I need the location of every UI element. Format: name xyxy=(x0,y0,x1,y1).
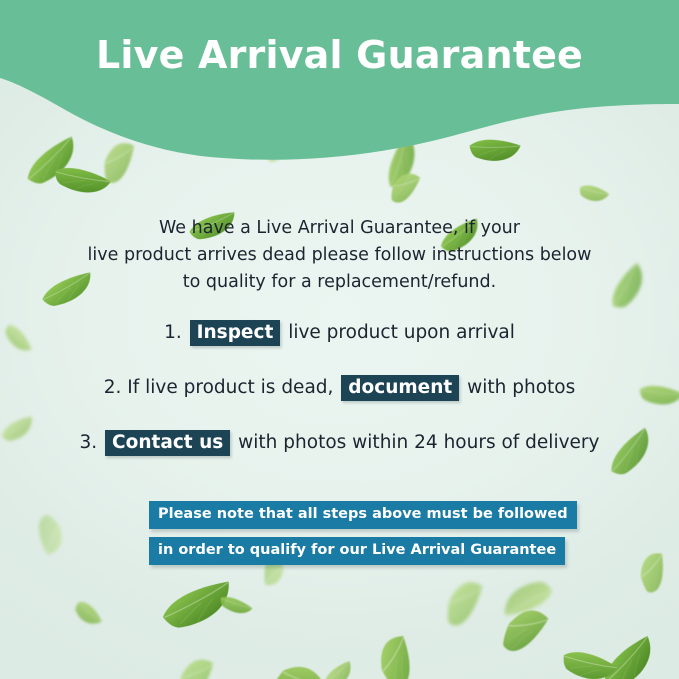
live-arrival-guarantee-poster: Live Arrival Guarantee We have a Live Ar… xyxy=(0,0,679,679)
step-number-1: 1. xyxy=(164,322,182,343)
step-text-after-2: with photos xyxy=(467,377,575,398)
step-highlight-contact-us[interactable]: Contact us xyxy=(105,430,230,456)
intro-paragraph: We have a Live Arrival Guarantee, if you… xyxy=(50,215,629,296)
step-number-2: 2. xyxy=(104,377,122,398)
step-item-1: 1. Inspect live product upon arrival xyxy=(30,320,649,346)
step-text-after-3: with photos within 24 hours of delivery xyxy=(238,432,599,453)
content-area: We have a Live Arrival Guarantee, if you… xyxy=(0,0,679,679)
steps-list: 1. Inspect live product upon arrival 2. … xyxy=(30,320,649,485)
intro-line-2: live product arrives dead please follow … xyxy=(50,242,629,269)
step-highlight-inspect[interactable]: Inspect xyxy=(190,320,281,346)
step-text-after-1: live product upon arrival xyxy=(288,322,515,343)
notice-bar-2: in order to qualify for our Live Arrival… xyxy=(149,537,565,565)
step-number-3: 3. xyxy=(80,432,98,453)
step-highlight-document[interactable]: document xyxy=(341,375,459,401)
notice-bar-1: Please note that all steps above must be… xyxy=(149,501,577,529)
step-item-2: 2. If live product is dead, document wit… xyxy=(30,375,649,401)
step-item-3: 3. Contact us with photos within 24 hour… xyxy=(30,430,649,456)
notice-block: Please note that all steps above must be… xyxy=(149,501,549,573)
intro-line-1: We have a Live Arrival Guarantee, if you… xyxy=(50,215,629,242)
intro-line-3: to quality for a replacement/refund. xyxy=(50,269,629,296)
step-text-before-2: If live product is dead, xyxy=(127,377,333,398)
